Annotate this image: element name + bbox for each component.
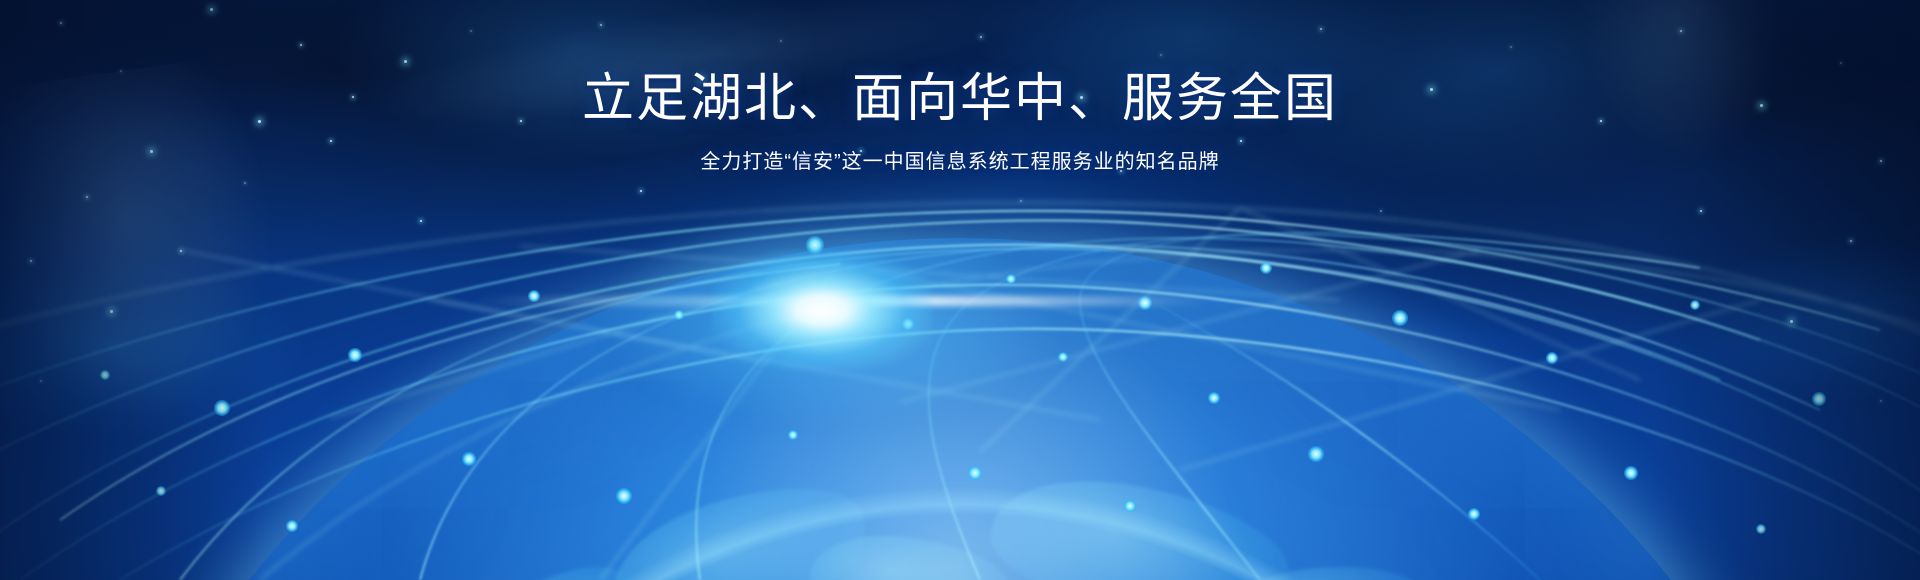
network-node [214, 400, 230, 416]
network-node [616, 488, 632, 504]
network-node [1308, 446, 1324, 462]
network-node [1392, 310, 1408, 326]
banner-subheadline: 全力打造“信安”这一中国信息系统工程服务业的知名品牌 [0, 145, 1920, 174]
network-node [788, 430, 798, 440]
banner-headline: 立足湖北、面向华中、服务全国 [0, 72, 1920, 127]
network-node [968, 466, 982, 480]
light-burst-core [712, 250, 932, 370]
network-node [348, 348, 362, 362]
network-node [1260, 262, 1272, 274]
network-node [1812, 392, 1826, 406]
banner-copy: 立足湖北、面向华中、服务全国 全力打造“信安”这一中国信息系统工程服务业的知名品… [0, 72, 1920, 174]
network-node [100, 370, 110, 380]
network-node [1756, 524, 1766, 534]
network-node [1546, 352, 1558, 364]
network-node [1468, 508, 1480, 520]
network-node [1624, 466, 1638, 480]
hero-banner: 立足湖北、面向华中、服务全国 全力打造“信安”这一中国信息系统工程服务业的知名品… [0, 0, 1920, 580]
network-node [1208, 392, 1220, 404]
network-node [156, 486, 166, 496]
network-node [462, 452, 476, 466]
network-node [1124, 500, 1136, 512]
network-node [1690, 300, 1700, 310]
network-node [286, 520, 298, 532]
